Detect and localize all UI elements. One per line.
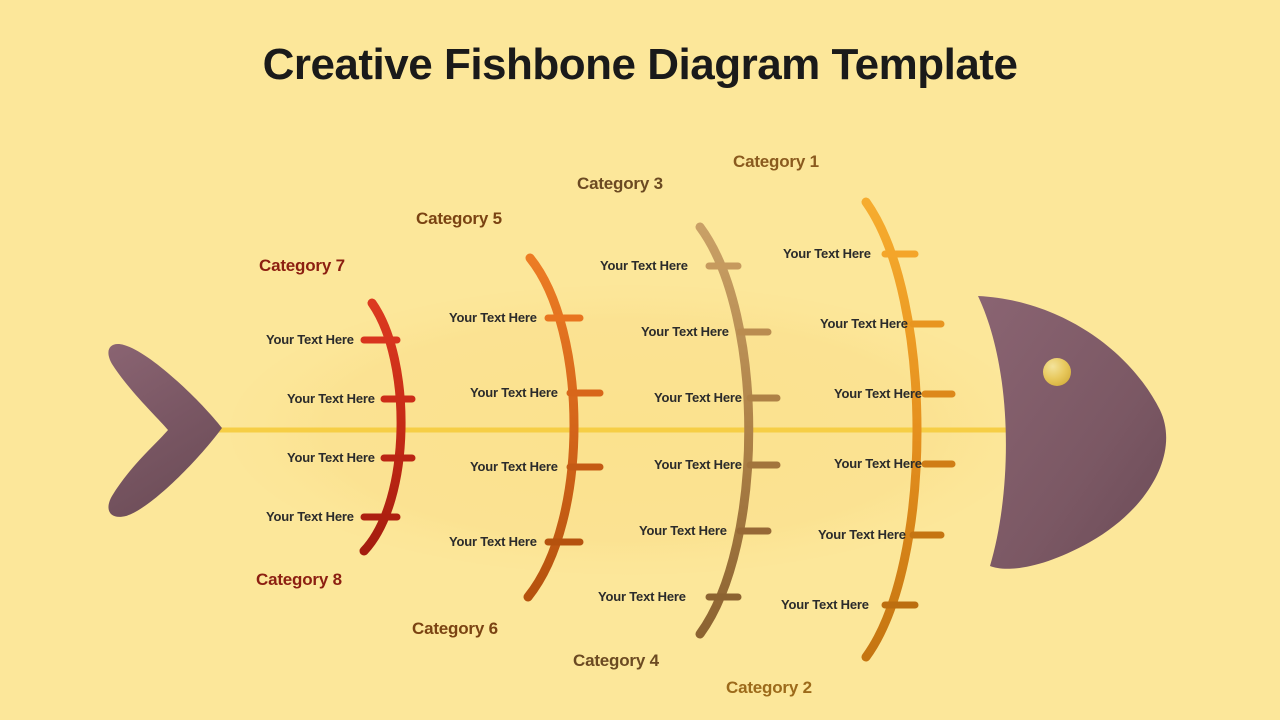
fish-tail <box>108 344 222 517</box>
rib-1-group <box>866 202 952 657</box>
rib-1-text-5[interactable]: Your Text Here <box>818 527 906 542</box>
rib-5-text-3[interactable]: Your Text Here <box>470 459 558 474</box>
rib-1-text-1[interactable]: Your Text Here <box>783 246 871 261</box>
rib-1-arc <box>866 202 917 657</box>
category-label-7[interactable]: Category 7 <box>259 256 345 276</box>
rib-1-text-3[interactable]: Your Text Here <box>834 386 922 401</box>
rib-3-text-2[interactable]: Your Text Here <box>641 324 729 339</box>
category-label-2[interactable]: Category 2 <box>726 678 812 698</box>
rib-1-text-6[interactable]: Your Text Here <box>781 597 869 612</box>
rib-7-text-2[interactable]: Your Text Here <box>287 391 375 406</box>
fish-body <box>230 285 1030 575</box>
rib-3-text-4[interactable]: Your Text Here <box>654 457 742 472</box>
category-label-8[interactable]: Category 8 <box>256 570 342 590</box>
rib-7-text-4[interactable]: Your Text Here <box>266 509 354 524</box>
page-title: Creative Fishbone Diagram Template <box>0 40 1280 90</box>
rib-1-text-4[interactable]: Your Text Here <box>834 456 922 471</box>
rib-1-text-2[interactable]: Your Text Here <box>820 316 908 331</box>
rib-5-text-4[interactable]: Your Text Here <box>449 534 537 549</box>
fish-graphic <box>0 0 1280 720</box>
rib-5-text-1[interactable]: Your Text Here <box>449 310 537 325</box>
category-label-4[interactable]: Category 4 <box>573 651 659 671</box>
category-label-1[interactable]: Category 1 <box>733 152 819 172</box>
fishbone-diagram-canvas: Creative Fishbone Diagram Template <box>0 0 1280 720</box>
fish-head <box>978 296 1166 569</box>
rib-7-text-3[interactable]: Your Text Here <box>287 450 375 465</box>
rib-5-group <box>528 258 600 597</box>
rib-3-text-6[interactable]: Your Text Here <box>598 589 686 604</box>
fish-eye <box>1043 358 1071 386</box>
category-label-6[interactable]: Category 6 <box>412 619 498 639</box>
rib-3-text-1[interactable]: Your Text Here <box>600 258 688 273</box>
category-label-3[interactable]: Category 3 <box>577 174 663 194</box>
rib-3-text-5[interactable]: Your Text Here <box>639 523 727 538</box>
rib-3-text-3[interactable]: Your Text Here <box>654 390 742 405</box>
rib-5-text-2[interactable]: Your Text Here <box>470 385 558 400</box>
category-label-5[interactable]: Category 5 <box>416 209 502 229</box>
rib-7-arc <box>364 303 401 551</box>
rib-3-arc <box>700 227 749 634</box>
rib-7-group <box>364 303 412 551</box>
rib-7-text-1[interactable]: Your Text Here <box>266 332 354 347</box>
rib-3-group <box>700 227 777 634</box>
